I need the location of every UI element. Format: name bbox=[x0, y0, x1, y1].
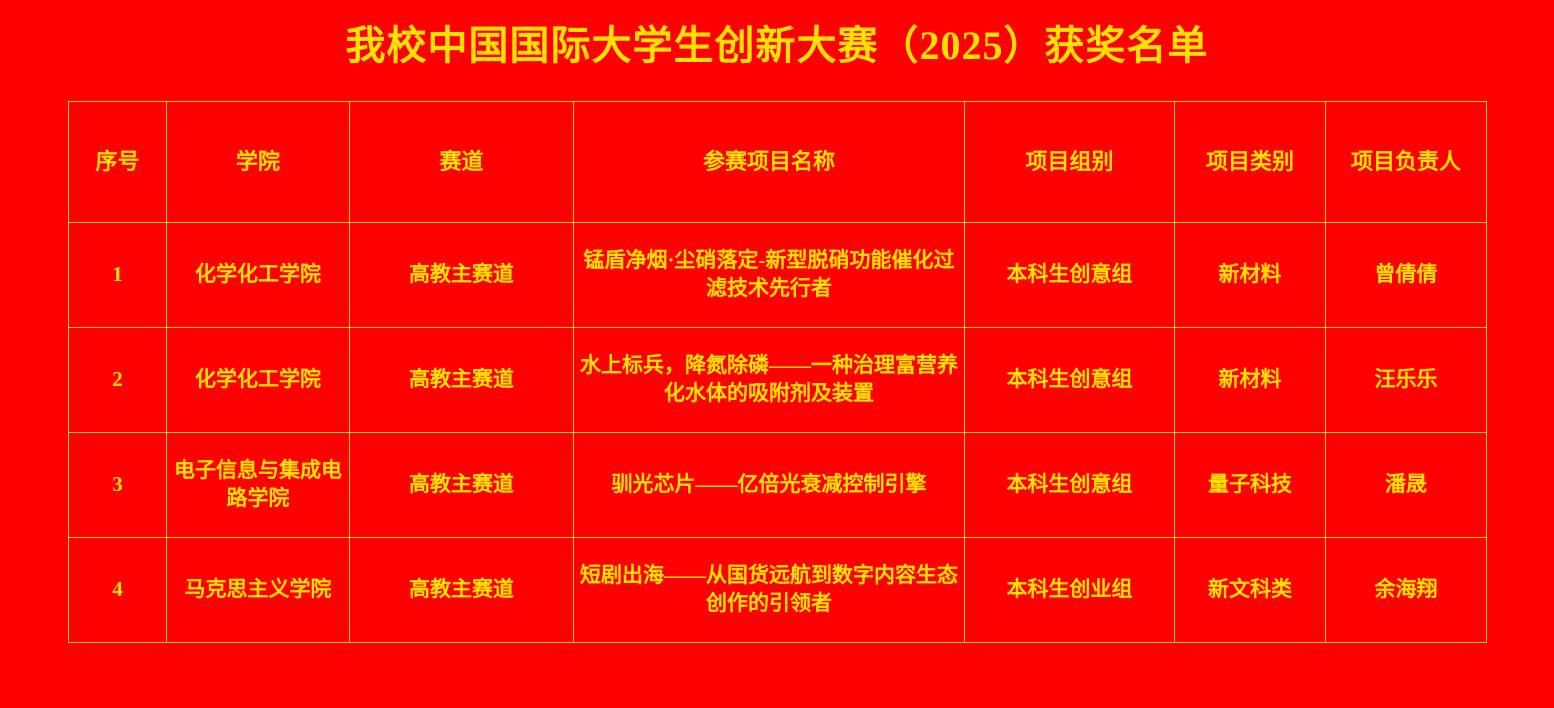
cell-project: 短剧出海——从国货远航到数字内容生态创作的引领者 bbox=[574, 538, 965, 643]
cell-group: 本科生创业组 bbox=[965, 538, 1175, 643]
column-header-track: 赛道 bbox=[350, 102, 574, 223]
cell-college: 马克思主义学院 bbox=[167, 538, 350, 643]
cell-leader: 余海翔 bbox=[1326, 538, 1487, 643]
table-row: 4 马克思主义学院 高教主赛道 短剧出海——从国货远航到数字内容生态创作的引领者… bbox=[69, 538, 1487, 643]
award-list-page: 我校中国国际大学生创新大赛（2025）获奖名单 序号 学院 赛道 参赛项目名称 … bbox=[0, 0, 1554, 708]
cell-leader: 汪乐乐 bbox=[1326, 328, 1487, 433]
cell-category: 量子科技 bbox=[1175, 433, 1326, 538]
table-header-row: 序号 学院 赛道 参赛项目名称 项目组别 项目类别 项目负责人 bbox=[69, 102, 1487, 223]
table-body: 1 化学化工学院 高教主赛道 锰盾净烟·尘硝落定-新型脱硝功能催化过滤技术先行者… bbox=[69, 223, 1487, 643]
cell-leader: 潘晟 bbox=[1326, 433, 1487, 538]
cell-college: 化学化工学院 bbox=[167, 223, 350, 328]
column-header-index: 序号 bbox=[69, 102, 167, 223]
cell-index: 2 bbox=[69, 328, 167, 433]
column-header-college: 学院 bbox=[167, 102, 350, 223]
cell-college: 电子信息与集成电路学院 bbox=[167, 433, 350, 538]
cell-index: 3 bbox=[69, 433, 167, 538]
cell-track: 高教主赛道 bbox=[350, 328, 574, 433]
table-row: 3 电子信息与集成电路学院 高教主赛道 驯光芯片——亿倍光衰减控制引擎 本科生创… bbox=[69, 433, 1487, 538]
cell-project: 驯光芯片——亿倍光衰减控制引擎 bbox=[574, 433, 965, 538]
column-header-category: 项目类别 bbox=[1175, 102, 1326, 223]
table-row: 1 化学化工学院 高教主赛道 锰盾净烟·尘硝落定-新型脱硝功能催化过滤技术先行者… bbox=[69, 223, 1487, 328]
cell-category: 新材料 bbox=[1175, 328, 1326, 433]
table-row: 2 化学化工学院 高教主赛道 水上标兵，降氮除磷——一种治理富营养化水体的吸附剂… bbox=[69, 328, 1487, 433]
column-header-project: 参赛项目名称 bbox=[574, 102, 965, 223]
cell-college: 化学化工学院 bbox=[167, 328, 350, 433]
cell-track: 高教主赛道 bbox=[350, 538, 574, 643]
cell-index: 1 bbox=[69, 223, 167, 328]
column-header-group: 项目组别 bbox=[965, 102, 1175, 223]
page-title: 我校中国国际大学生创新大赛（2025）获奖名单 bbox=[0, 22, 1554, 70]
cell-leader: 曾倩倩 bbox=[1326, 223, 1487, 328]
cell-category: 新材料 bbox=[1175, 223, 1326, 328]
cell-group: 本科生创意组 bbox=[965, 223, 1175, 328]
cell-track: 高教主赛道 bbox=[350, 433, 574, 538]
cell-track: 高教主赛道 bbox=[350, 223, 574, 328]
award-table: 序号 学院 赛道 参赛项目名称 项目组别 项目类别 项目负责人 1 化学化工学院… bbox=[68, 101, 1487, 643]
award-table-container: 序号 学院 赛道 参赛项目名称 项目组别 项目类别 项目负责人 1 化学化工学院… bbox=[68, 101, 1486, 643]
cell-project: 锰盾净烟·尘硝落定-新型脱硝功能催化过滤技术先行者 bbox=[574, 223, 965, 328]
cell-project: 水上标兵，降氮除磷——一种治理富营养化水体的吸附剂及装置 bbox=[574, 328, 965, 433]
cell-group: 本科生创意组 bbox=[965, 328, 1175, 433]
cell-group: 本科生创意组 bbox=[965, 433, 1175, 538]
cell-index: 4 bbox=[69, 538, 167, 643]
cell-category: 新文科类 bbox=[1175, 538, 1326, 643]
table-header: 序号 学院 赛道 参赛项目名称 项目组别 项目类别 项目负责人 bbox=[69, 102, 1487, 223]
column-header-leader: 项目负责人 bbox=[1326, 102, 1487, 223]
